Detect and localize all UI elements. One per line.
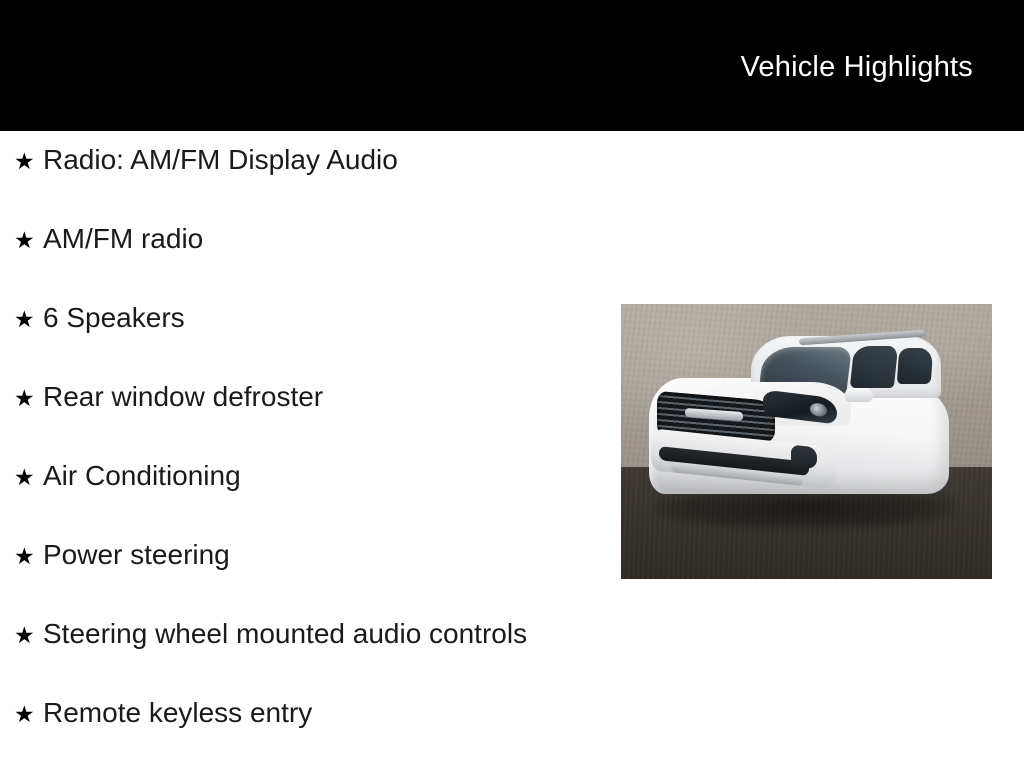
star-bullet-icon: ★ [14, 305, 43, 335]
vehicle-side-mirror [845, 388, 873, 402]
highlight-label: Rear window defroster [43, 382, 610, 412]
star-bullet-icon: ★ [14, 226, 43, 256]
vehicle-fog-light-housing [791, 445, 817, 470]
list-item: ★ AM/FM radio [0, 224, 610, 303]
star-bullet-icon: ★ [14, 621, 43, 651]
vehicle-photo: COUGHLIN CARS.com [621, 304, 992, 579]
star-bullet-icon: ★ [14, 384, 43, 414]
list-item: ★ 6 Speakers [0, 303, 610, 382]
vehicle-front-side-window [850, 346, 898, 388]
highlight-label: Power steering [43, 540, 610, 570]
highlight-label: Remote keyless entry [43, 698, 610, 728]
list-item: ★ Radio: AM/FM Display Audio [0, 145, 610, 224]
vehicle-highlights-list: ★ Radio: AM/FM Display Audio ★ AM/FM rad… [0, 145, 610, 777]
vehicle-rear-window [897, 348, 934, 384]
star-bullet-icon: ★ [14, 463, 43, 493]
highlight-label: 6 Speakers [43, 303, 610, 333]
star-bullet-icon: ★ [14, 147, 43, 177]
star-bullet-icon: ★ [14, 700, 43, 730]
page-title: Vehicle Highlights [740, 50, 973, 84]
vehicle-illustration [649, 334, 969, 540]
page-header-bar: Vehicle Highlights [0, 0, 1024, 131]
list-item: ★ Steering wheel mounted audio controls [0, 619, 610, 698]
list-item: ★ Remote keyless entry [0, 698, 610, 777]
list-item: ★ Rear window defroster [0, 382, 610, 461]
highlight-label: Radio: AM/FM Display Audio [43, 145, 610, 175]
highlight-label: AM/FM radio [43, 224, 610, 254]
highlight-label: Air Conditioning [43, 461, 610, 491]
list-item: ★ Power steering [0, 540, 610, 619]
star-bullet-icon: ★ [14, 542, 43, 572]
list-item: ★ Air Conditioning [0, 461, 610, 540]
highlight-label: Steering wheel mounted audio controls [43, 619, 610, 649]
